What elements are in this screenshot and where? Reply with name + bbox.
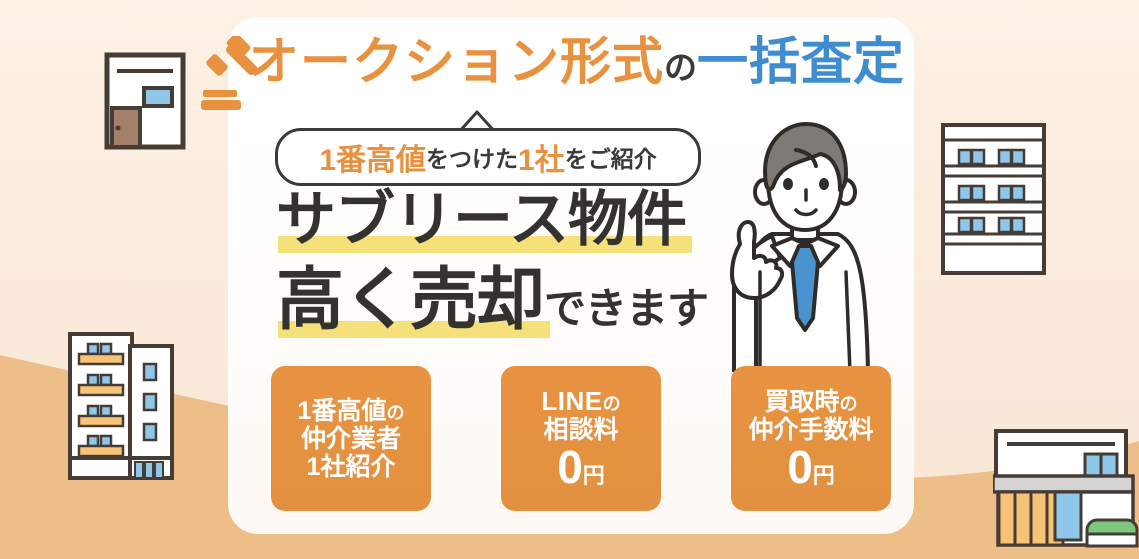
badge-no-commission-line-1-main: 買取時 [764, 388, 839, 416]
badge-line-free-line-1-suffix: の [603, 394, 621, 414]
banner: オークション形式の一括査定 1番高値をつけた1社をご紹介 サブリース物件 高く売… [0, 0, 1139, 559]
badge-no-commission-line-2-text: 仲介手数料 [748, 416, 873, 444]
badge-no-commission[interactable]: 買取時の 仲介手数料 0円 [731, 366, 891, 511]
sub-headline-bubble: 1番高値をつけた1社をご紹介 [275, 128, 701, 186]
badge-line-free-line-2: 相談料 [543, 416, 618, 444]
badge-line-free-line-2-text: 相談料 [543, 416, 618, 444]
badge-line-free-unit: 円 [583, 464, 605, 489]
badge-no-commission-line-1-suffix: の [840, 394, 858, 414]
feature-badges: 1番高値の 仲介業者 1社紹介 LINEの 相談料 0円 買取時の [271, 366, 891, 511]
badge-line-free[interactable]: LINEの 相談料 0円 [501, 366, 661, 511]
main-copy-line-2-tail: できます [544, 285, 708, 332]
badge-line-free-zero: 0 [557, 444, 583, 490]
badge-no-commission-line-3: 0円 [787, 444, 835, 490]
main-copy: サブリース物件 高く売却できます [276, 190, 746, 346]
headline-blue: 一括査定 [697, 33, 905, 90]
badge-top-agent-line-2: 仲介業者 [301, 425, 401, 453]
apartment-building-icon [68, 332, 174, 480]
storefront-building-icon [993, 428, 1139, 548]
bubble-seg2: をつけた [426, 140, 518, 174]
badge-no-commission-line-1: 買取時の [764, 388, 857, 416]
headline: オークション形式の一括査定 [248, 36, 888, 98]
badge-no-commission-zero: 0 [787, 444, 813, 490]
headline-connector: の [664, 49, 697, 86]
main-copy-line-1-text: サブリース物件 [276, 186, 686, 253]
badge-top-agent-line-1-suffix: の [386, 403, 404, 423]
bubble-seg4: をご紹介 [565, 140, 657, 174]
badge-top-agent-line-3-text: 1社紹介 [307, 453, 396, 481]
main-copy-line-2: 高く売却できます [276, 266, 746, 346]
badge-top-agent-line-3: 1社紹介 [307, 453, 396, 481]
main-copy-line-2-strong: 高く売却 [276, 262, 544, 338]
badge-top-agent[interactable]: 1番高値の 仲介業者 1社紹介 [271, 366, 431, 511]
badge-no-commission-unit: 円 [813, 464, 835, 489]
apartment-building-icon-right [941, 123, 1046, 275]
badge-line-free-line-1: LINEの [541, 387, 620, 416]
pointing-businessman-illustration [700, 122, 920, 372]
bubble-seg1: 1番高値 [319, 135, 426, 179]
badge-no-commission-line-2: 仲介手数料 [748, 416, 873, 444]
badge-line-free-line-1-main: LINE [541, 387, 602, 416]
badge-line-free-line-3: 0円 [557, 444, 605, 490]
badge-top-agent-line-1-main: 1番高値 [298, 397, 387, 425]
bubble-seg3: 1社 [518, 135, 565, 179]
small-house-icon [104, 52, 186, 150]
badge-top-agent-line-1: 1番高値の [298, 397, 405, 425]
badge-top-agent-line-2-text: 仲介業者 [301, 425, 401, 453]
headline-orange: オークション形式 [248, 33, 664, 90]
main-copy-line-1: サブリース物件 [276, 190, 746, 262]
